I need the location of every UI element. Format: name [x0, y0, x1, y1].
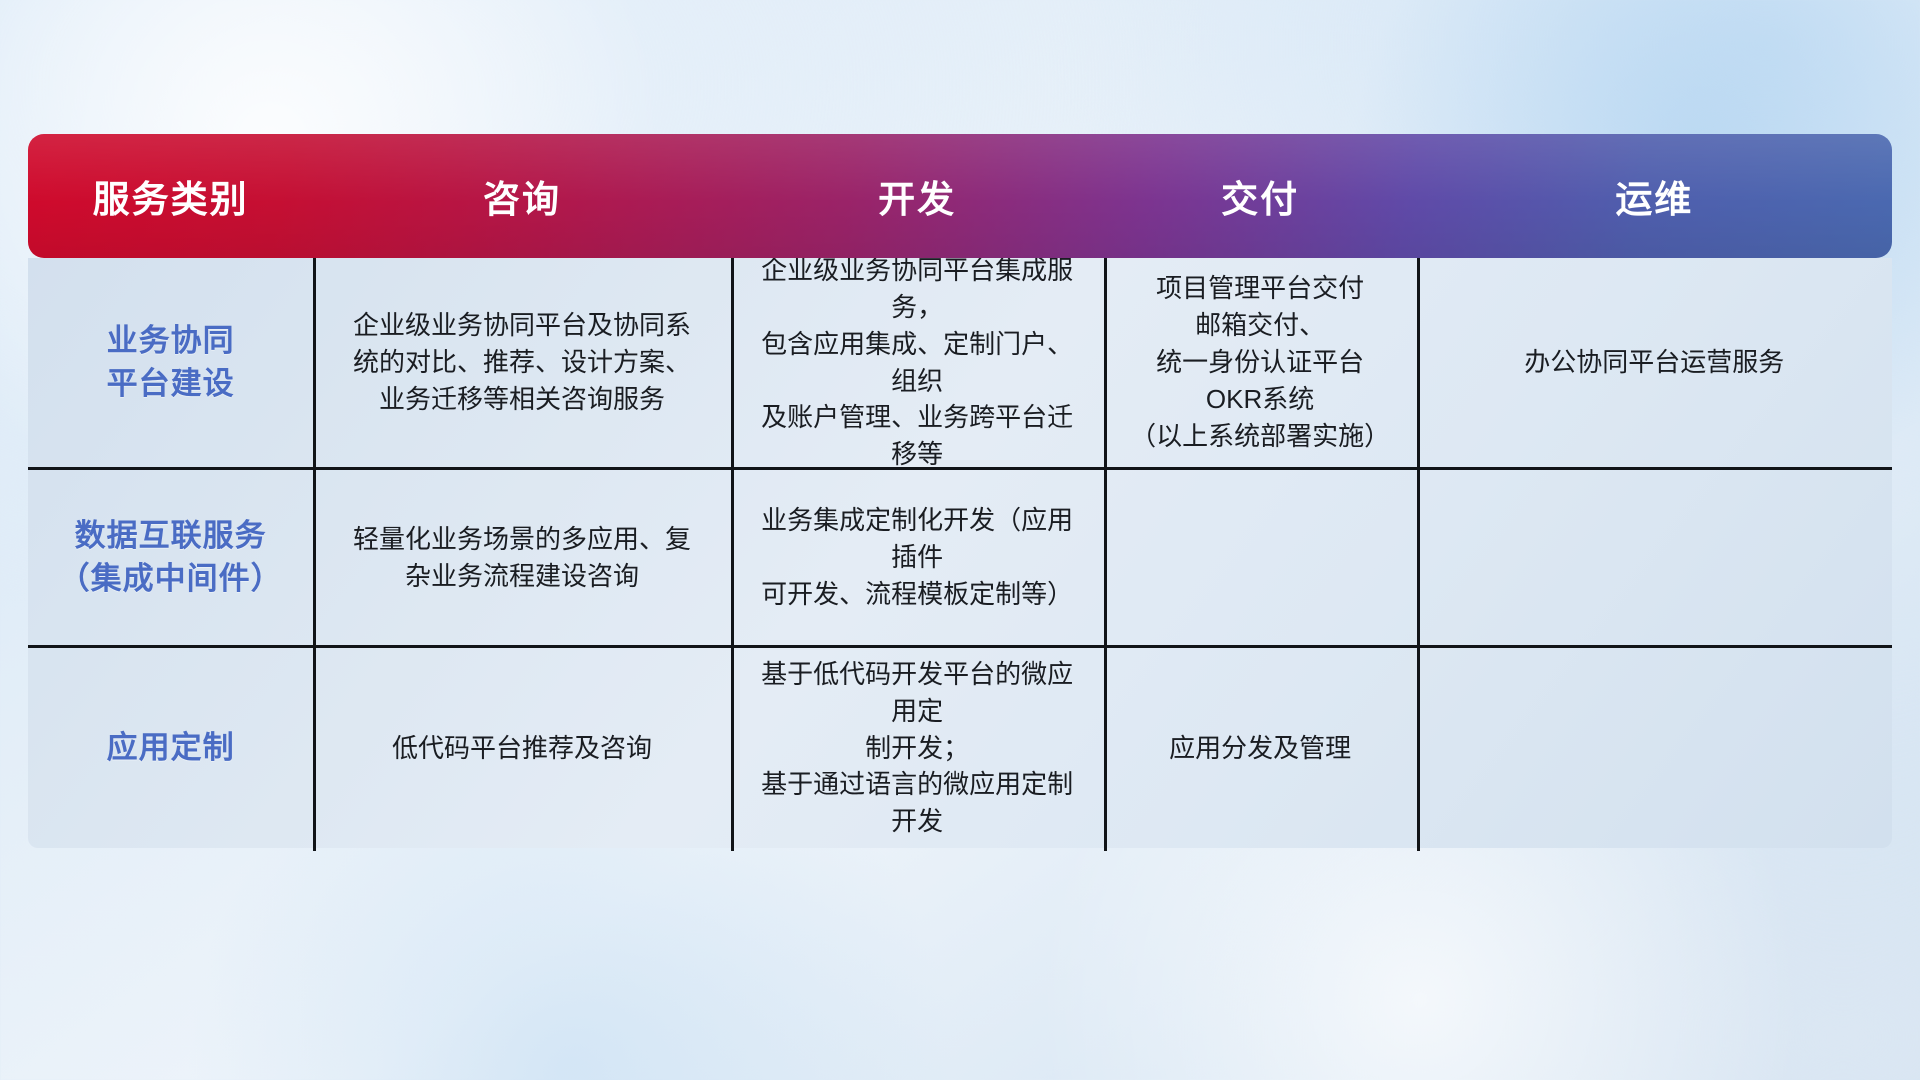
table-body: 业务协同 平台建设 企业级业务协同平台及协同系 统的对比、推荐、设计方案、 业务…: [28, 258, 1892, 848]
column-header-operations: 运维: [1417, 134, 1892, 258]
cell-row2-consulting: 低代码平台推荐及咨询: [313, 648, 731, 848]
cell-row0-consulting: 企业级业务协同平台及协同系 统的对比、推荐、设计方案、 业务迁移等相关咨询服务: [313, 258, 731, 467]
cell-row0-development: 企业级业务协同平台集成服务， 包含应用集成、定制门户、组织 及账户管理、业务跨平…: [731, 258, 1104, 467]
cell-row1-consulting: 轻量化业务场景的多应用、复 杂业务流程建设咨询: [313, 470, 731, 645]
row-label-application-customization: 应用定制: [28, 648, 313, 848]
table-row: 业务协同 平台建设 企业级业务协同平台及协同系 统的对比、推荐、设计方案、 业务…: [28, 258, 1892, 470]
cell-row1-operations: [1417, 470, 1892, 645]
cell-row2-development: 基于低代码开发平台的微应用定 制开发； 基于通过语言的微应用定制开发: [731, 648, 1104, 848]
table-row: 应用定制 低代码平台推荐及咨询 基于低代码开发平台的微应用定 制开发； 基于通过…: [28, 648, 1892, 848]
cell-row0-operations: 办公协同平台运营服务: [1417, 258, 1892, 467]
cell-row2-delivery: 应用分发及管理: [1104, 648, 1417, 848]
cell-row1-development: 业务集成定制化开发（应用插件 可开发、流程模板定制等）: [731, 470, 1104, 645]
column-header-development: 开发: [731, 134, 1104, 258]
column-header-consulting: 咨询: [313, 134, 731, 258]
column-header-delivery: 交付: [1104, 134, 1417, 258]
service-matrix-table: 服务类别 咨询 开发 交付 运维 业务协同 平台建设 企业级业务协同平台及协同系…: [28, 134, 1892, 848]
row-label-business-collaboration-platform: 业务协同 平台建设: [28, 258, 313, 467]
cell-row1-delivery: [1104, 470, 1417, 645]
table-row: 数据互联服务 （集成中间件） 轻量化业务场景的多应用、复 杂业务流程建设咨询 业…: [28, 470, 1892, 648]
table-header-row: 服务类别 咨询 开发 交付 运维: [28, 134, 1892, 258]
cell-row2-operations: [1417, 648, 1892, 848]
row-label-data-interconnection-service: 数据互联服务 （集成中间件）: [28, 470, 313, 645]
service-matrix-table-wrapper: 服务类别 咨询 开发 交付 运维 业务协同 平台建设 企业级业务协同平台及协同系…: [28, 134, 1892, 848]
column-header-service-category: 服务类别: [28, 134, 313, 258]
cell-row0-delivery: 项目管理平台交付 邮箱交付、 统一身份认证平台 OKR系统 （以上系统部署实施）: [1104, 258, 1417, 467]
